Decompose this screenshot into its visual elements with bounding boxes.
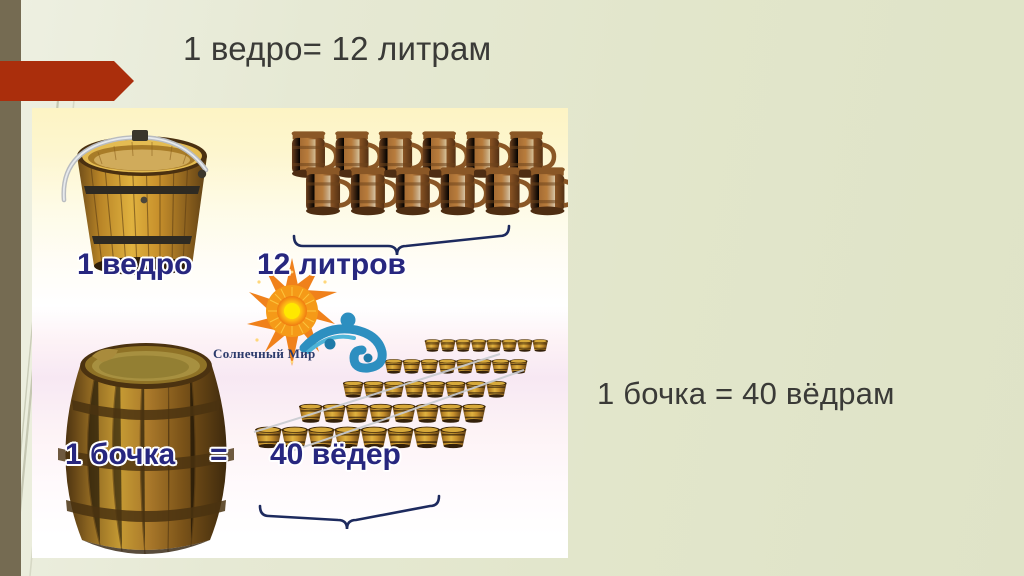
bucket-array-art bbox=[254, 339, 548, 529]
right-statement-text: 1 бочка = 40 вёдрам bbox=[597, 376, 1017, 412]
red-arrow-icon bbox=[0, 61, 134, 101]
brand-name-text: Солнечный Мир bbox=[213, 346, 316, 362]
caption-twelve-liters: 12 литров bbox=[257, 248, 406, 282]
caption-equals-bottom: = bbox=[210, 438, 228, 472]
caption-one-barrel: 1 бочка bbox=[65, 438, 175, 472]
illustration-artwork bbox=[32, 108, 568, 558]
clay-mugs-art bbox=[292, 131, 568, 255]
page-title: 1 ведро= 12 литрам bbox=[183, 30, 583, 68]
caption-forty-buckets: 40 вёдер bbox=[270, 438, 401, 472]
caption-one-bucket: 1 ведро bbox=[77, 248, 192, 282]
illustration-panel: 1 ведро 12 литров 1 бочка = 40 вёдер Сол… bbox=[32, 108, 568, 558]
slide-canvas: 1 ведро= 12 литрам 1 бочка = 40 вёдрам bbox=[0, 0, 1024, 576]
